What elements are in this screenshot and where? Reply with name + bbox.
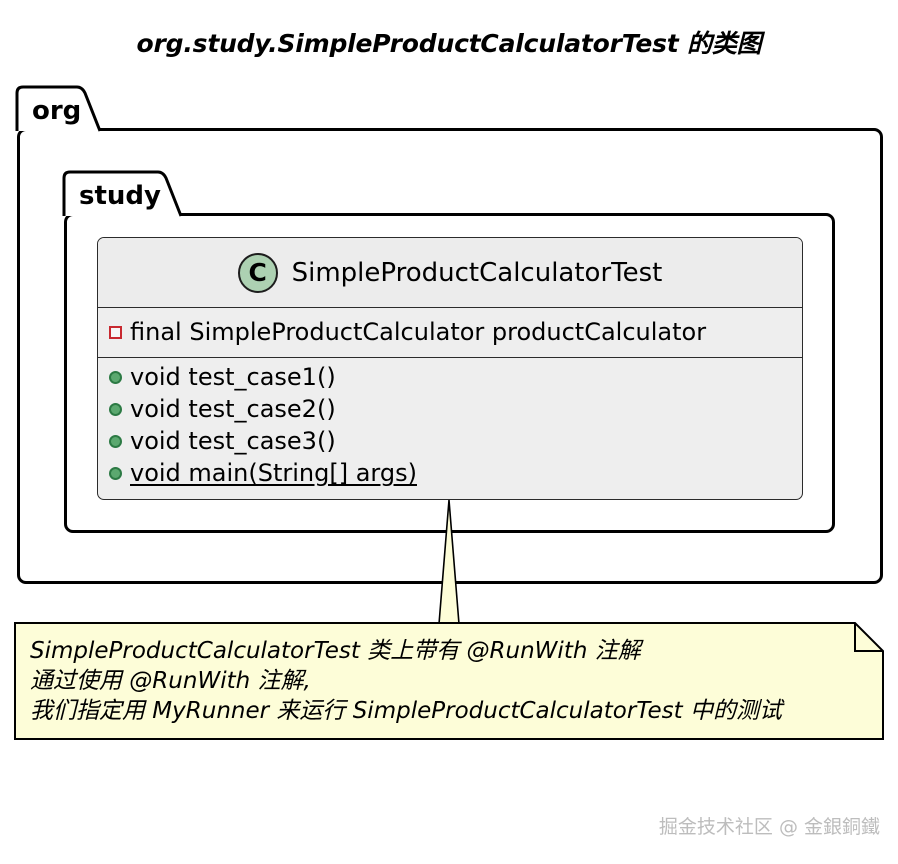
class-field-label: final SimpleProductCalculator productCal… [130, 320, 706, 344]
package-tab-study: study [61, 169, 193, 219]
page-title: org.study.SimpleProductCalculatorTest 的类… [0, 24, 898, 60]
class-methods-compartment: void test_case1() void test_case2() void… [98, 358, 802, 495]
note-text: SimpleProductCalculatorTest 类上带有 @RunWit… [30, 636, 870, 726]
class-method-row[interactable]: void test_case1() [98, 361, 802, 393]
watermark: 掘金技术社区 @ 金銀銅鐵 [0, 812, 880, 839]
package-label-org: org [32, 98, 81, 124]
package-label-study: study [79, 183, 161, 209]
note-box: SimpleProductCalculatorTest 类上带有 @RunWit… [14, 622, 884, 740]
public-method-marker-icon [109, 403, 122, 416]
note-connector [430, 500, 470, 624]
class-icon: C [238, 253, 278, 293]
class-method-row[interactable]: void test_case2() [98, 393, 802, 425]
class-name: SimpleProductCalculatorTest [292, 258, 663, 288]
package-tab-org: org [14, 84, 134, 134]
class-box-simpleproductcalculatortest[interactable]: C SimpleProductCalculatorTest final Simp… [97, 237, 803, 500]
class-method-label: void test_case1() [130, 365, 336, 389]
class-header: C SimpleProductCalculatorTest [98, 238, 802, 308]
class-field-row[interactable]: final SimpleProductCalculator productCal… [98, 311, 802, 353]
class-method-row[interactable]: void test_case3() [98, 425, 802, 457]
public-method-marker-icon [109, 371, 122, 384]
class-method-row[interactable]: void main(String[] args) [98, 457, 802, 489]
class-method-label: void test_case3() [130, 429, 336, 453]
class-method-label: void test_case2() [130, 397, 336, 421]
class-fields-compartment: final SimpleProductCalculator productCal… [98, 308, 802, 358]
package-private-field-marker-icon [109, 326, 122, 339]
class-method-label-static: void main(String[] args) [130, 461, 417, 485]
note-connector-shape [430, 500, 470, 624]
public-method-marker-icon [109, 467, 122, 480]
public-method-marker-icon [109, 435, 122, 448]
